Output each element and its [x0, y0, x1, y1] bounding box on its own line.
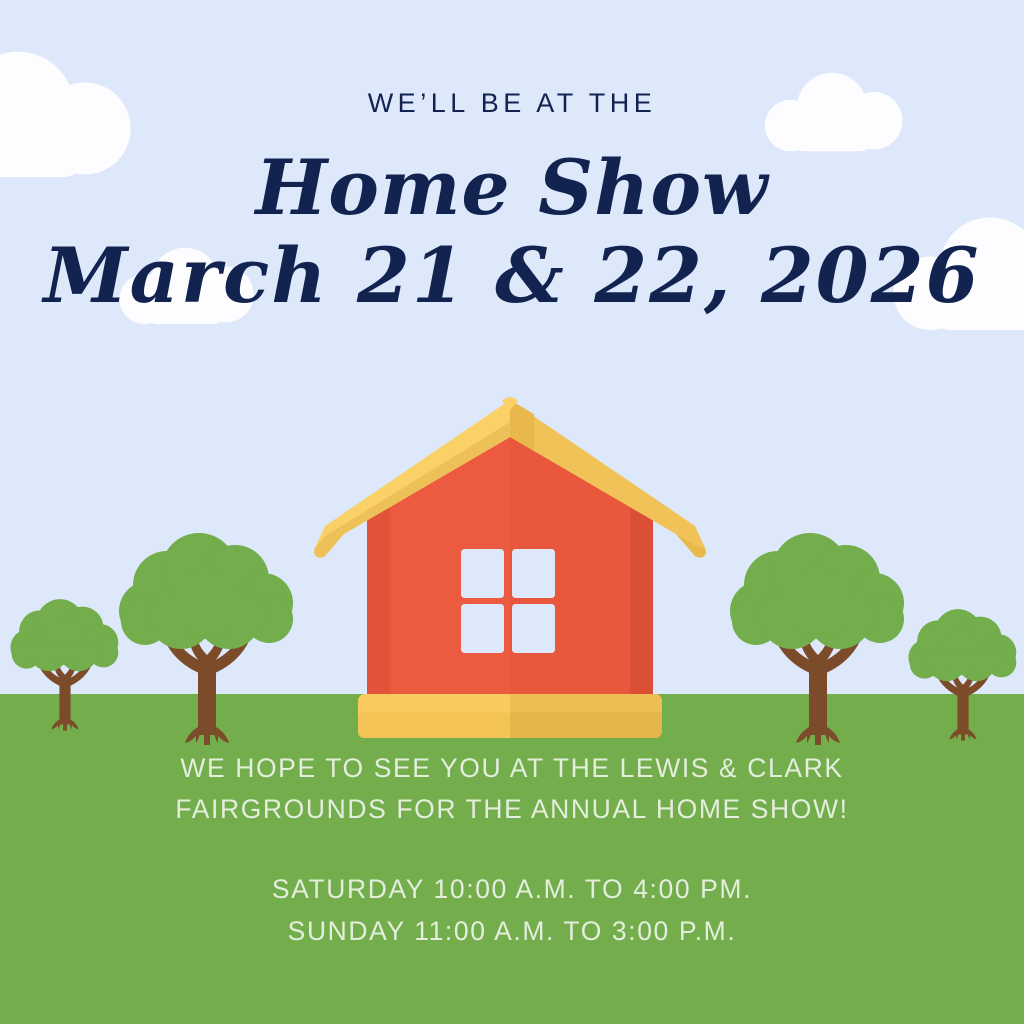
grass-background	[0, 694, 1024, 1024]
invitation-message: WE HOPE TO SEE YOU AT THE LEWIS & CLARK …	[0, 748, 1024, 830]
event-hours: SATURDAY 10:00 A.M. TO 4:00 PM. SUNDAY 1…	[0, 868, 1024, 952]
poster-title: Home Show March 21 & 22, 2026	[0, 150, 1024, 314]
hours-saturday: SATURDAY 10:00 A.M. TO 4:00 PM.	[0, 868, 1024, 910]
invitation-line-1: WE HOPE TO SEE YOU AT THE LEWIS & CLARK	[0, 748, 1024, 789]
poster-canvas: WE’LL BE AT THE Home Show March 21 & 22,…	[0, 0, 1024, 1024]
kicker-text: WE’LL BE AT THE	[0, 88, 1024, 119]
invitation-line-2: FAIRGROUNDS FOR THE ANNUAL HOME SHOW!	[0, 789, 1024, 830]
title-line-1: Home Show	[0, 150, 1024, 226]
title-line-2: March 21 & 22, 2026	[0, 238, 1024, 314]
hours-sunday: SUNDAY 11:00 A.M. TO 3:00 P.M.	[0, 910, 1024, 952]
